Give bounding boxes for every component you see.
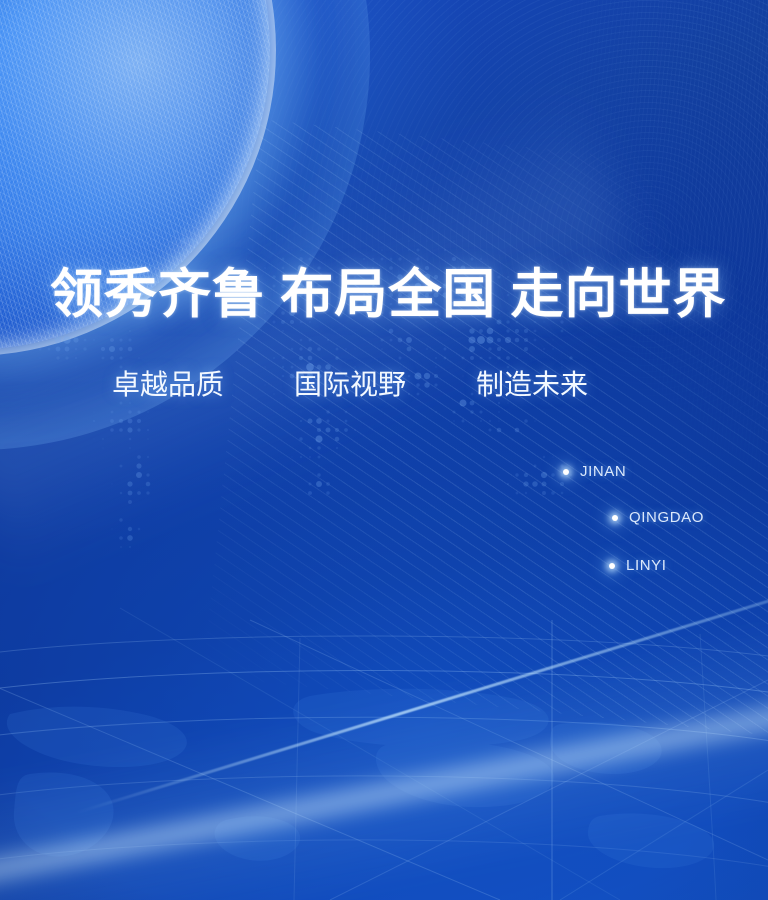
city-label: LINYI [626, 557, 667, 574]
city-dot-icon [609, 563, 615, 569]
page-subtitle: 卓越品质 国际视野 制造未来 [112, 372, 588, 400]
vignette-overlay [0, 0, 768, 900]
subtitle-part-3: 制造未来 [476, 370, 588, 401]
soft-light-wash [0, 92, 657, 577]
map-city-marker-linyi[interactable]: LINYI [609, 557, 667, 574]
floor-world-map-silhouette [0, 640, 768, 900]
subtitle-part-1: 卓越品质 [112, 370, 224, 401]
perspective-globe-grid [0, 560, 768, 900]
radial-arc-line-fan [148, 0, 768, 740]
thin-light-ray [76, 589, 768, 814]
diagonal-streak-lines [202, 119, 768, 741]
city-dot-icon [612, 515, 618, 521]
map-city-marker-qingdao[interactable]: QINGDAO [612, 509, 704, 526]
vertical-striation-texture [0, 0, 768, 900]
hero-banner: 领秀齐鲁 布局全国 走向世界 卓越品质 国际视野 制造未来 JINAN QING… [0, 0, 768, 900]
page-title: 领秀齐鲁 布局全国 走向世界 [50, 269, 727, 322]
diagonal-light-beam [0, 587, 768, 900]
subtitle-part-2: 国际视野 [294, 370, 406, 401]
map-city-marker-jinan[interactable]: JINAN [563, 463, 626, 480]
city-label: JINAN [580, 463, 626, 480]
city-label: QINGDAO [629, 509, 704, 526]
city-dot-icon [563, 469, 569, 475]
